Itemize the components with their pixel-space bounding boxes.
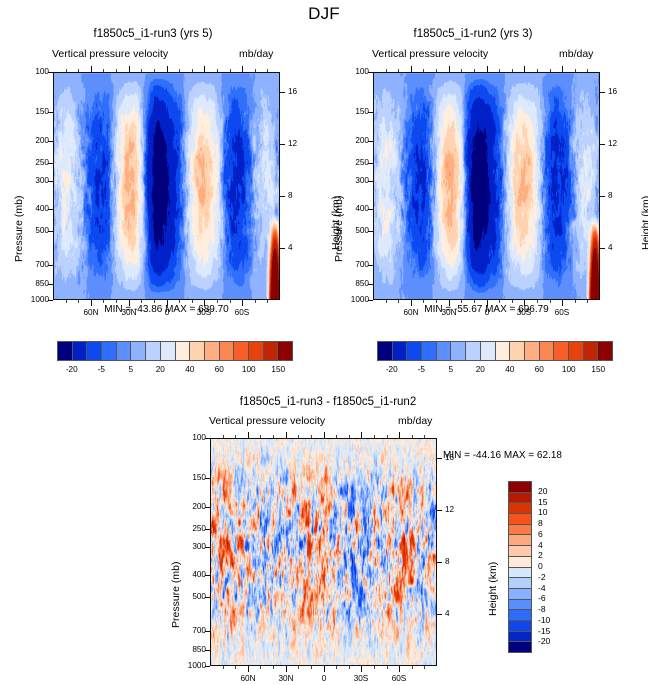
y2-tick-label-run3-16: 16: [288, 87, 310, 96]
x-top-minor-tick-diff-80: [223, 435, 224, 438]
x-tick-label-run3-60N: 60N: [75, 308, 107, 317]
x-tick-diff-30N: [286, 666, 287, 672]
colorbar-labels-run3: -20-55204060100150: [57, 365, 293, 377]
colorbar-swatch-12: [553, 342, 568, 360]
colorbar-swatch-4: [436, 342, 451, 360]
colorbar-swatch-15: [277, 342, 292, 360]
y-tick-label-run3-850: 850: [19, 279, 49, 288]
x-minor-tick-run2-20: [461, 300, 462, 303]
x-top-minor-tick-run2--80: [587, 69, 588, 72]
colorbar-swatch-1: [392, 342, 407, 360]
x-minor-tick-diff-80: [223, 666, 224, 669]
colorbar-swatch-5: [130, 342, 145, 360]
x-tick-run3-60N: [91, 300, 92, 306]
colorbar-v-swatch-4: [509, 524, 531, 535]
x-top-minor-tick-run3-80: [66, 69, 67, 72]
x-minor-tick-run3--20: [192, 300, 193, 303]
colorbar-v-tick-label-10: 10: [538, 507, 547, 517]
y-tick-label-run3-500: 500: [19, 226, 49, 235]
colorbar-swatch-13: [568, 342, 583, 360]
x-top-minor-tick-run3--70: [255, 69, 256, 72]
colorbar-v-tick-label-6: 6: [538, 529, 543, 539]
y-tick-label-diff-500: 500: [176, 592, 206, 601]
x-top-minor-tick-run2-80: [386, 69, 387, 72]
x-minor-tick-run3--40: [217, 300, 218, 303]
panel-units-diff: mb/day: [398, 415, 432, 427]
x-tick-label-run2-60S: 60S: [546, 308, 578, 317]
y-tick-label-run3-150: 150: [19, 107, 49, 116]
colorbar-v-swatch-12: [509, 609, 531, 620]
x-top-minor-tick-run2-40: [436, 69, 437, 72]
minmax-diff: MIN = -44.16 MAX = 62.18: [443, 450, 633, 461]
x-minor-tick-diff--20: [349, 666, 350, 669]
y2-tick-label-run3-12: 12: [288, 139, 310, 148]
colorbar-swatch-2: [86, 342, 101, 360]
y-tick-label-run3-300: 300: [19, 176, 49, 185]
y-tick-label-diff-400: 400: [176, 570, 206, 579]
x-top-tick-run3-30: [129, 66, 130, 72]
colorbar-labels-run2: -20-55204060100150: [377, 365, 613, 377]
colorbar-swatch-12: [233, 342, 248, 360]
y2-tick-label-diff-12: 12: [445, 505, 467, 514]
x-top-minor-tick-diff-50: [260, 435, 261, 438]
x-tick-run2-60S: [562, 300, 563, 306]
x-top-minor-tick-diff--50: [387, 435, 388, 438]
y2-tick-label-run2-8: 8: [608, 191, 630, 200]
x-top-minor-tick-run2--50: [550, 69, 551, 72]
colorbar-horizontal-run3[interactable]: [57, 341, 293, 361]
x-minor-tick-run3--80: [267, 300, 268, 303]
contour-plot-run2[interactable]: [373, 72, 600, 300]
colorbar-v-swatch-5: [509, 534, 531, 545]
x-minor-tick-diff-10: [311, 666, 312, 669]
x-minor-tick-run2-10: [474, 300, 475, 303]
x-top-minor-tick-run3--40: [217, 69, 218, 72]
x-top-tick-run3-0: [167, 66, 168, 72]
y-tick-label-run2-200: 200: [339, 136, 369, 145]
y-tick-label-diff-150: 150: [176, 473, 206, 482]
y2-tick-run3-16: [280, 92, 285, 93]
contour-plot-diff[interactable]: [210, 438, 437, 666]
y-tick-label-run2-700: 700: [339, 260, 369, 269]
y2-tick-label-diff-8: 8: [445, 557, 467, 566]
panel-units-run2: mb/day: [559, 48, 593, 60]
x-minor-tick-diff--50: [387, 666, 388, 669]
y2-tick-diff-16: [437, 458, 442, 459]
colorbar-swatch-9: [189, 342, 204, 360]
panel-units-run3: mb/day: [239, 48, 273, 60]
colorbar-v-swatch-2: [509, 502, 531, 513]
x-tick-label-run3-60S: 60S: [226, 308, 258, 317]
y-tick-label-run2-400: 400: [339, 204, 369, 213]
x-tick-label-run3-30S: 30S: [188, 308, 220, 317]
x-top-tick-run2-60: [411, 66, 412, 72]
x-top-tick-diff-0: [324, 432, 325, 438]
y-tick-label-diff-100: 100: [176, 433, 206, 442]
x-tick-label-diff-0: 0: [308, 674, 340, 683]
colorbar-v-swatch-9: [509, 577, 531, 588]
x-minor-tick-run2-70: [398, 300, 399, 303]
x-minor-tick-diff-40: [273, 666, 274, 669]
panel-title-diff: f1850c5_i1-run3 - f1850c5_i1-run2: [168, 396, 488, 408]
x-tick-run3-30N: [129, 300, 130, 306]
panel-title-run2: f1850c5_i1-run2 (yrs 3): [338, 28, 608, 40]
colorbar-tick-label-150: 150: [581, 365, 615, 374]
colorbar-v-tick-label--15: -15: [538, 626, 550, 636]
x-minor-tick-run2--80: [587, 300, 588, 303]
x-minor-tick-run2-50: [423, 300, 424, 303]
x-top-tick-diff--60: [399, 432, 400, 438]
colorbar-v-tick-label--10: -10: [538, 615, 550, 625]
x-tick-label-run3-0: 0: [151, 308, 183, 317]
x-top-minor-tick-run3--80: [267, 69, 268, 72]
x-top-minor-tick-diff--40: [374, 435, 375, 438]
y2-tick-run2-8: [600, 196, 605, 197]
colorbar-v-swatch-8: [509, 567, 531, 578]
x-top-minor-tick-run2-70: [398, 69, 399, 72]
x-top-minor-tick-run2--20: [512, 69, 513, 72]
colorbar-v-tick-label--8: -8: [538, 604, 546, 614]
colorbar-swatch-7: [480, 342, 495, 360]
colorbar-v-swatch-1: [509, 492, 531, 503]
colorbar-v-tick-label--6: -6: [538, 593, 546, 603]
colorbar-horizontal-run2[interactable]: [377, 341, 613, 361]
x-top-minor-tick-diff--20: [349, 435, 350, 438]
y2-tick-label-diff-16: 16: [445, 453, 467, 462]
colorbar-v-swatch-6: [509, 545, 531, 556]
colorbar-v-tick-label-15: 15: [538, 497, 547, 507]
y-tick-label-diff-250: 250: [176, 524, 206, 533]
y-tick-label-run2-1000: 1000: [339, 295, 369, 304]
x-tick-run3-0: [167, 300, 168, 306]
colorbar-v-tick-label--20: -20: [538, 636, 550, 646]
y-tick-label-diff-1000: 1000: [176, 661, 206, 670]
x-top-minor-tick-run3--50: [230, 69, 231, 72]
x-top-minor-tick-run3-40: [116, 69, 117, 72]
x-minor-tick-run2--70: [575, 300, 576, 303]
x-top-minor-tick-diff-70: [235, 435, 236, 438]
y2-tick-run2-12: [600, 144, 605, 145]
y-tick-label-diff-300: 300: [176, 542, 206, 551]
y2-tick-label-run2-12: 12: [608, 139, 630, 148]
colorbar-swatch-15: [597, 342, 612, 360]
colorbar-swatch-4: [116, 342, 131, 360]
y-tick-label-run3-700: 700: [19, 260, 49, 269]
x-top-minor-tick-run3-70: [78, 69, 79, 72]
panel-title-run3: f1850c5_i1-run3 (yrs 5): [18, 28, 288, 40]
y2-axis-label-diff: Height (km): [487, 562, 499, 616]
x-tick-diff-0: [324, 666, 325, 672]
x-minor-tick-run3-50: [103, 300, 104, 303]
colorbar-swatch-7: [160, 342, 175, 360]
x-tick-label-diff-30S: 30S: [345, 674, 377, 683]
x-tick-diff-60S: [399, 666, 400, 672]
colorbar-v-swatch-10: [509, 588, 531, 599]
x-minor-tick-run2--10: [499, 300, 500, 303]
colorbar-v-swatch-15: [509, 641, 531, 652]
x-tick-label-run2-30N: 30N: [433, 308, 465, 317]
x-top-minor-tick-diff-20: [298, 435, 299, 438]
y2-tick-run3-12: [280, 144, 285, 145]
x-top-tick-run3-60: [91, 66, 92, 72]
y2-tick-diff-4: [437, 614, 442, 615]
x-top-tick-diff-30: [286, 432, 287, 438]
x-top-minor-tick-run2--70: [575, 69, 576, 72]
x-top-minor-tick-diff--10: [336, 435, 337, 438]
colorbar-swatch-5: [450, 342, 465, 360]
x-tick-label-run2-30S: 30S: [508, 308, 540, 317]
x-top-minor-tick-diff--80: [424, 435, 425, 438]
colorbar-swatch-2: [406, 342, 421, 360]
colorbar-swatch-0: [58, 342, 72, 360]
x-minor-tick-diff-20: [298, 666, 299, 669]
y-tick-label-run2-850: 850: [339, 279, 369, 288]
colorbar-tick-label-150: 150: [261, 365, 295, 374]
x-minor-tick-run2-40: [436, 300, 437, 303]
panel-variable-run3: Vertical pressure velocity: [52, 48, 168, 60]
x-top-minor-tick-run2--40: [537, 69, 538, 72]
x-top-tick-run3--30: [204, 66, 205, 72]
x-tick-run2-60N: [411, 300, 412, 306]
colorbar-swatch-8: [495, 342, 510, 360]
colorbar-swatch-8: [175, 342, 190, 360]
colorbar-swatch-0: [378, 342, 392, 360]
x-minor-tick-run2-80: [386, 300, 387, 303]
x-top-tick-run2-30: [449, 66, 450, 72]
colorbar-swatch-10: [204, 342, 219, 360]
colorbar-v-tick-label-2: 2: [538, 550, 543, 560]
x-minor-tick-diff--40: [374, 666, 375, 669]
x-tick-run2-0: [487, 300, 488, 306]
y-tick-label-run2-300: 300: [339, 176, 369, 185]
colorbar-swatch-3: [101, 342, 116, 360]
colorbar-v-tick-label-8: 8: [538, 518, 543, 528]
x-top-tick-diff-60: [248, 432, 249, 438]
y2-tick-diff-8: [437, 562, 442, 563]
x-tick-diff-30S: [361, 666, 362, 672]
x-top-minor-tick-diff-40: [273, 435, 274, 438]
colorbar-swatch-3: [421, 342, 436, 360]
colorbar-swatch-14: [583, 342, 598, 360]
x-top-tick-diff--30: [361, 432, 362, 438]
x-top-minor-tick-run2-10: [474, 69, 475, 72]
colorbar-v-tick-label-0: 0: [538, 561, 543, 571]
colorbar-v-swatch-3: [509, 513, 531, 524]
y-tick-label-run2-100: 100: [339, 67, 369, 76]
colorbar-swatch-1: [72, 342, 87, 360]
x-tick-diff-60N: [248, 666, 249, 672]
x-minor-tick-diff--70: [412, 666, 413, 669]
x-tick-label-diff-30N: 30N: [270, 674, 302, 683]
colorbar-v-tick-label--4: -4: [538, 583, 546, 593]
y-tick-label-run2-150: 150: [339, 107, 369, 116]
colorbar-swatch-6: [465, 342, 480, 360]
x-minor-tick-run3--70: [255, 300, 256, 303]
y2-tick-run3-8: [280, 196, 285, 197]
y2-tick-label-run3-4: 4: [288, 243, 310, 252]
x-tick-label-diff-60S: 60S: [383, 674, 415, 683]
colorbar-v-tick-label-20: 20: [538, 486, 547, 496]
x-top-minor-tick-run2-20: [461, 69, 462, 72]
x-minor-tick-diff--80: [424, 666, 425, 669]
x-top-minor-tick-run2--10: [499, 69, 500, 72]
x-top-tick-run2--30: [524, 66, 525, 72]
x-tick-label-run3-30N: 30N: [113, 308, 145, 317]
figure-title: DJF: [0, 4, 648, 24]
colorbar-swatch-13: [248, 342, 263, 360]
y-tick-label-run3-100: 100: [19, 67, 49, 76]
x-top-minor-tick-run3--10: [179, 69, 180, 72]
y-tick-label-diff-700: 700: [176, 626, 206, 635]
x-minor-tick-run3-40: [116, 300, 117, 303]
y2-tick-diff-12: [437, 510, 442, 511]
y-tick-label-run3-200: 200: [19, 136, 49, 145]
x-top-tick-run2--60: [562, 66, 563, 72]
x-minor-tick-run2--40: [537, 300, 538, 303]
x-tick-run2-30S: [524, 300, 525, 306]
panel-variable-diff: Vertical pressure velocity: [209, 415, 325, 427]
x-minor-tick-run3-20: [141, 300, 142, 303]
x-minor-tick-run2--20: [512, 300, 513, 303]
y2-tick-label-run2-16: 16: [608, 87, 630, 96]
colorbar-swatch-10: [524, 342, 539, 360]
x-minor-tick-run3-70: [78, 300, 79, 303]
x-top-tick-run3--60: [242, 66, 243, 72]
y-tick-label-diff-200: 200: [176, 502, 206, 511]
x-tick-label-run2-0: 0: [471, 308, 503, 317]
colorbar-v-swatch-14: [509, 631, 531, 642]
colorbar-swatch-11: [539, 342, 554, 360]
x-top-minor-tick-run3-20: [141, 69, 142, 72]
x-minor-tick-run3--50: [230, 300, 231, 303]
x-minor-tick-diff--10: [336, 666, 337, 669]
x-minor-tick-run3--10: [179, 300, 180, 303]
colorbar-v-swatch-13: [509, 620, 531, 631]
y2-tick-run3-4: [280, 248, 285, 249]
colorbar-v-tick-label-4: 4: [538, 540, 543, 550]
colorbar-v-swatch-0: [509, 482, 531, 492]
x-tick-run3-60S: [242, 300, 243, 306]
colorbar-v-swatch-7: [509, 556, 531, 567]
contour-plot-run3[interactable]: [53, 72, 280, 300]
x-top-minor-tick-run2-50: [423, 69, 424, 72]
colorbar-swatch-6: [145, 342, 160, 360]
x-minor-tick-run3-80: [66, 300, 67, 303]
y-tick-label-run3-250: 250: [19, 158, 49, 167]
colorbar-vertical-labels-diff: 20151086420-2-4-6-8-10-15-20: [536, 481, 570, 653]
x-minor-tick-run3-10: [154, 300, 155, 303]
x-top-minor-tick-run3--20: [192, 69, 193, 72]
colorbar-swatch-11: [219, 342, 234, 360]
x-tick-label-run2-60N: 60N: [395, 308, 427, 317]
x-top-minor-tick-run3-50: [103, 69, 104, 72]
x-top-minor-tick-run3-10: [154, 69, 155, 72]
y2-tick-run2-16: [600, 92, 605, 93]
y-tick-label-run3-400: 400: [19, 204, 49, 213]
colorbar-v-swatch-11: [509, 599, 531, 610]
x-tick-label-diff-60N: 60N: [232, 674, 264, 683]
colorbar-vertical-diff[interactable]: [508, 481, 532, 653]
y-tick-label-diff-850: 850: [176, 645, 206, 654]
x-tick-run3-30S: [204, 300, 205, 306]
x-top-minor-tick-diff--70: [412, 435, 413, 438]
colorbar-v-tick-label--2: -2: [538, 572, 546, 582]
y2-tick-run2-4: [600, 248, 605, 249]
x-minor-tick-run2--50: [550, 300, 551, 303]
x-top-minor-tick-diff-10: [311, 435, 312, 438]
x-top-tick-run2-0: [487, 66, 488, 72]
x-minor-tick-diff-50: [260, 666, 261, 669]
y2-axis-label-run2: Height (km): [640, 196, 648, 250]
panel-variable-run2: Vertical pressure velocity: [372, 48, 488, 60]
y2-tick-label-run2-4: 4: [608, 243, 630, 252]
x-minor-tick-diff-70: [235, 666, 236, 669]
y2-tick-label-run3-8: 8: [288, 191, 310, 200]
y2-tick-label-diff-4: 4: [445, 609, 467, 618]
y-tick-label-run2-250: 250: [339, 158, 369, 167]
y-tick-label-run3-1000: 1000: [19, 295, 49, 304]
y-tick-label-run2-500: 500: [339, 226, 369, 235]
x-tick-run2-30N: [449, 300, 450, 306]
colorbar-swatch-9: [509, 342, 524, 360]
colorbar-swatch-14: [263, 342, 278, 360]
